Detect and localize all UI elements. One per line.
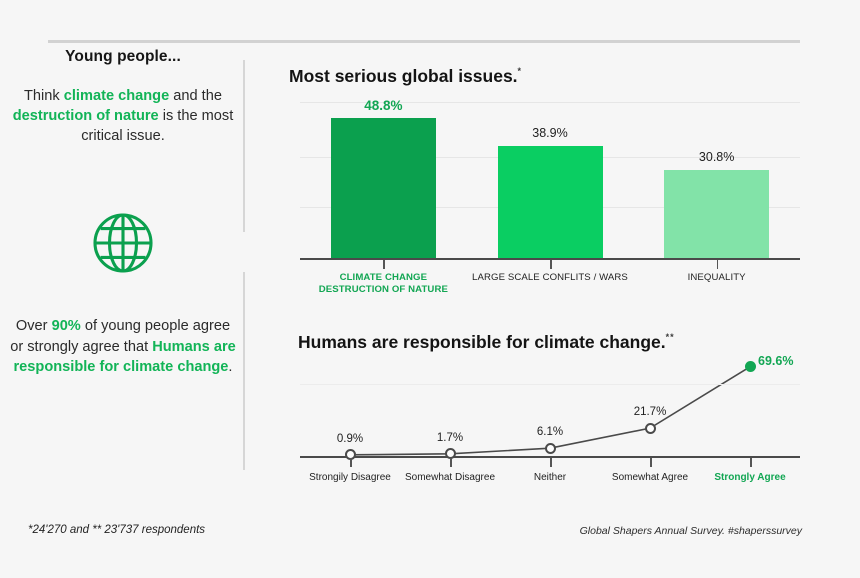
bar-category-label-3: INEQUALITY	[632, 272, 802, 284]
line-chart-title-text: Humans are responsible for climate chang…	[298, 332, 666, 352]
sidebar-paragraph-two: Over 90% of young people agree or strong…	[10, 316, 236, 378]
vertical-divider-upper	[243, 60, 245, 232]
line-chart-title: Humans are responsible for climate chang…	[298, 332, 675, 353]
line-chart-title-asterisks: **	[666, 332, 675, 342]
line-axis-tick-2	[450, 458, 452, 467]
footnote-respondents: *24'270 and ** 23'737 respondents	[28, 524, 205, 536]
line-data-point-4	[645, 423, 656, 434]
bar-category-line-1-2: DESTRUCTION OF NATURE	[298, 284, 468, 296]
para2-text-3: .	[228, 359, 232, 375]
bar-category-line-3-1: INEQUALITY	[632, 272, 802, 284]
globe-icon	[92, 212, 154, 274]
top-divider-rule	[48, 40, 800, 43]
para1-text-1: Think	[24, 88, 64, 104]
line-value-label-3: 6.1%	[510, 426, 590, 438]
sidebar-title: Young people...	[12, 48, 234, 66]
para2-highlight-ninety-percent: 90%	[52, 318, 81, 334]
para1-text-2: and the	[169, 88, 222, 104]
line-axis-tick-3	[550, 458, 552, 467]
bar-axis-tick-2	[550, 260, 552, 269]
para1-highlight-climate-change: climate change	[64, 88, 169, 104]
bar-chart-title-text: Most serious global issues.	[289, 66, 518, 86]
bar-value-label-2: 38.9%	[490, 126, 610, 140]
bar-value-label-1: 48.8%	[323, 98, 443, 113]
bar-axis-tick-1	[383, 260, 385, 269]
bar-chart: 48.8%CLIMATE CHANGEDESTRUCTION OF NATURE…	[300, 100, 800, 260]
bar-category-line-1-1: CLIMATE CHANGE	[298, 272, 468, 284]
line-axis-tick-4	[650, 458, 652, 467]
bar-axis-tick-3	[717, 260, 719, 269]
vertical-divider-lower	[243, 272, 245, 470]
line-value-label-4: 21.7%	[610, 406, 690, 418]
sidebar-upper-block: Young people... Think climate change and…	[12, 48, 234, 146]
bar-category-label-1: CLIMATE CHANGEDESTRUCTION OF NATURE	[298, 272, 468, 295]
bar-value-label-3: 30.8%	[657, 150, 777, 164]
line-axis-tick-5	[750, 458, 752, 467]
bar-category-line-2-1: LARGE SCALE CONFLITS / WARS	[465, 272, 635, 284]
sidebar-paragraph-one: Think climate change and the destruction…	[12, 86, 234, 146]
bar-chart-title: Most serious global issues.*	[289, 66, 522, 87]
bar-category-label-2: LARGE SCALE CONFLITS / WARS	[465, 272, 635, 284]
bar-3	[664, 170, 769, 258]
bar-2	[498, 146, 603, 258]
bar-1	[331, 118, 436, 258]
line-value-label-5: 69.6%	[758, 354, 818, 368]
line-value-label-2: 1.7%	[410, 432, 490, 444]
line-data-point-3	[545, 443, 556, 454]
line-axis-tick-1	[350, 458, 352, 467]
line-category-label-5: Strongly Agree	[680, 472, 820, 483]
line-data-point-5	[745, 361, 756, 372]
para2-text-1: Over	[16, 318, 52, 334]
line-gridline-upper	[300, 384, 800, 385]
footnote-source: Global Shapers Annual Survey. #shaperssu…	[580, 525, 802, 537]
bar-chart-title-asterisk: *	[518, 66, 523, 76]
globe-icon-wrapper	[12, 212, 234, 274]
line-value-label-1: 0.9%	[310, 433, 390, 445]
line-chart: 0.9%Strongily Disagree1.7%Somewhat Disag…	[300, 352, 800, 472]
infographic-canvas: Young people... Think climate change and…	[0, 0, 860, 578]
para1-highlight-destruction-of-nature: destruction of nature	[13, 108, 159, 124]
